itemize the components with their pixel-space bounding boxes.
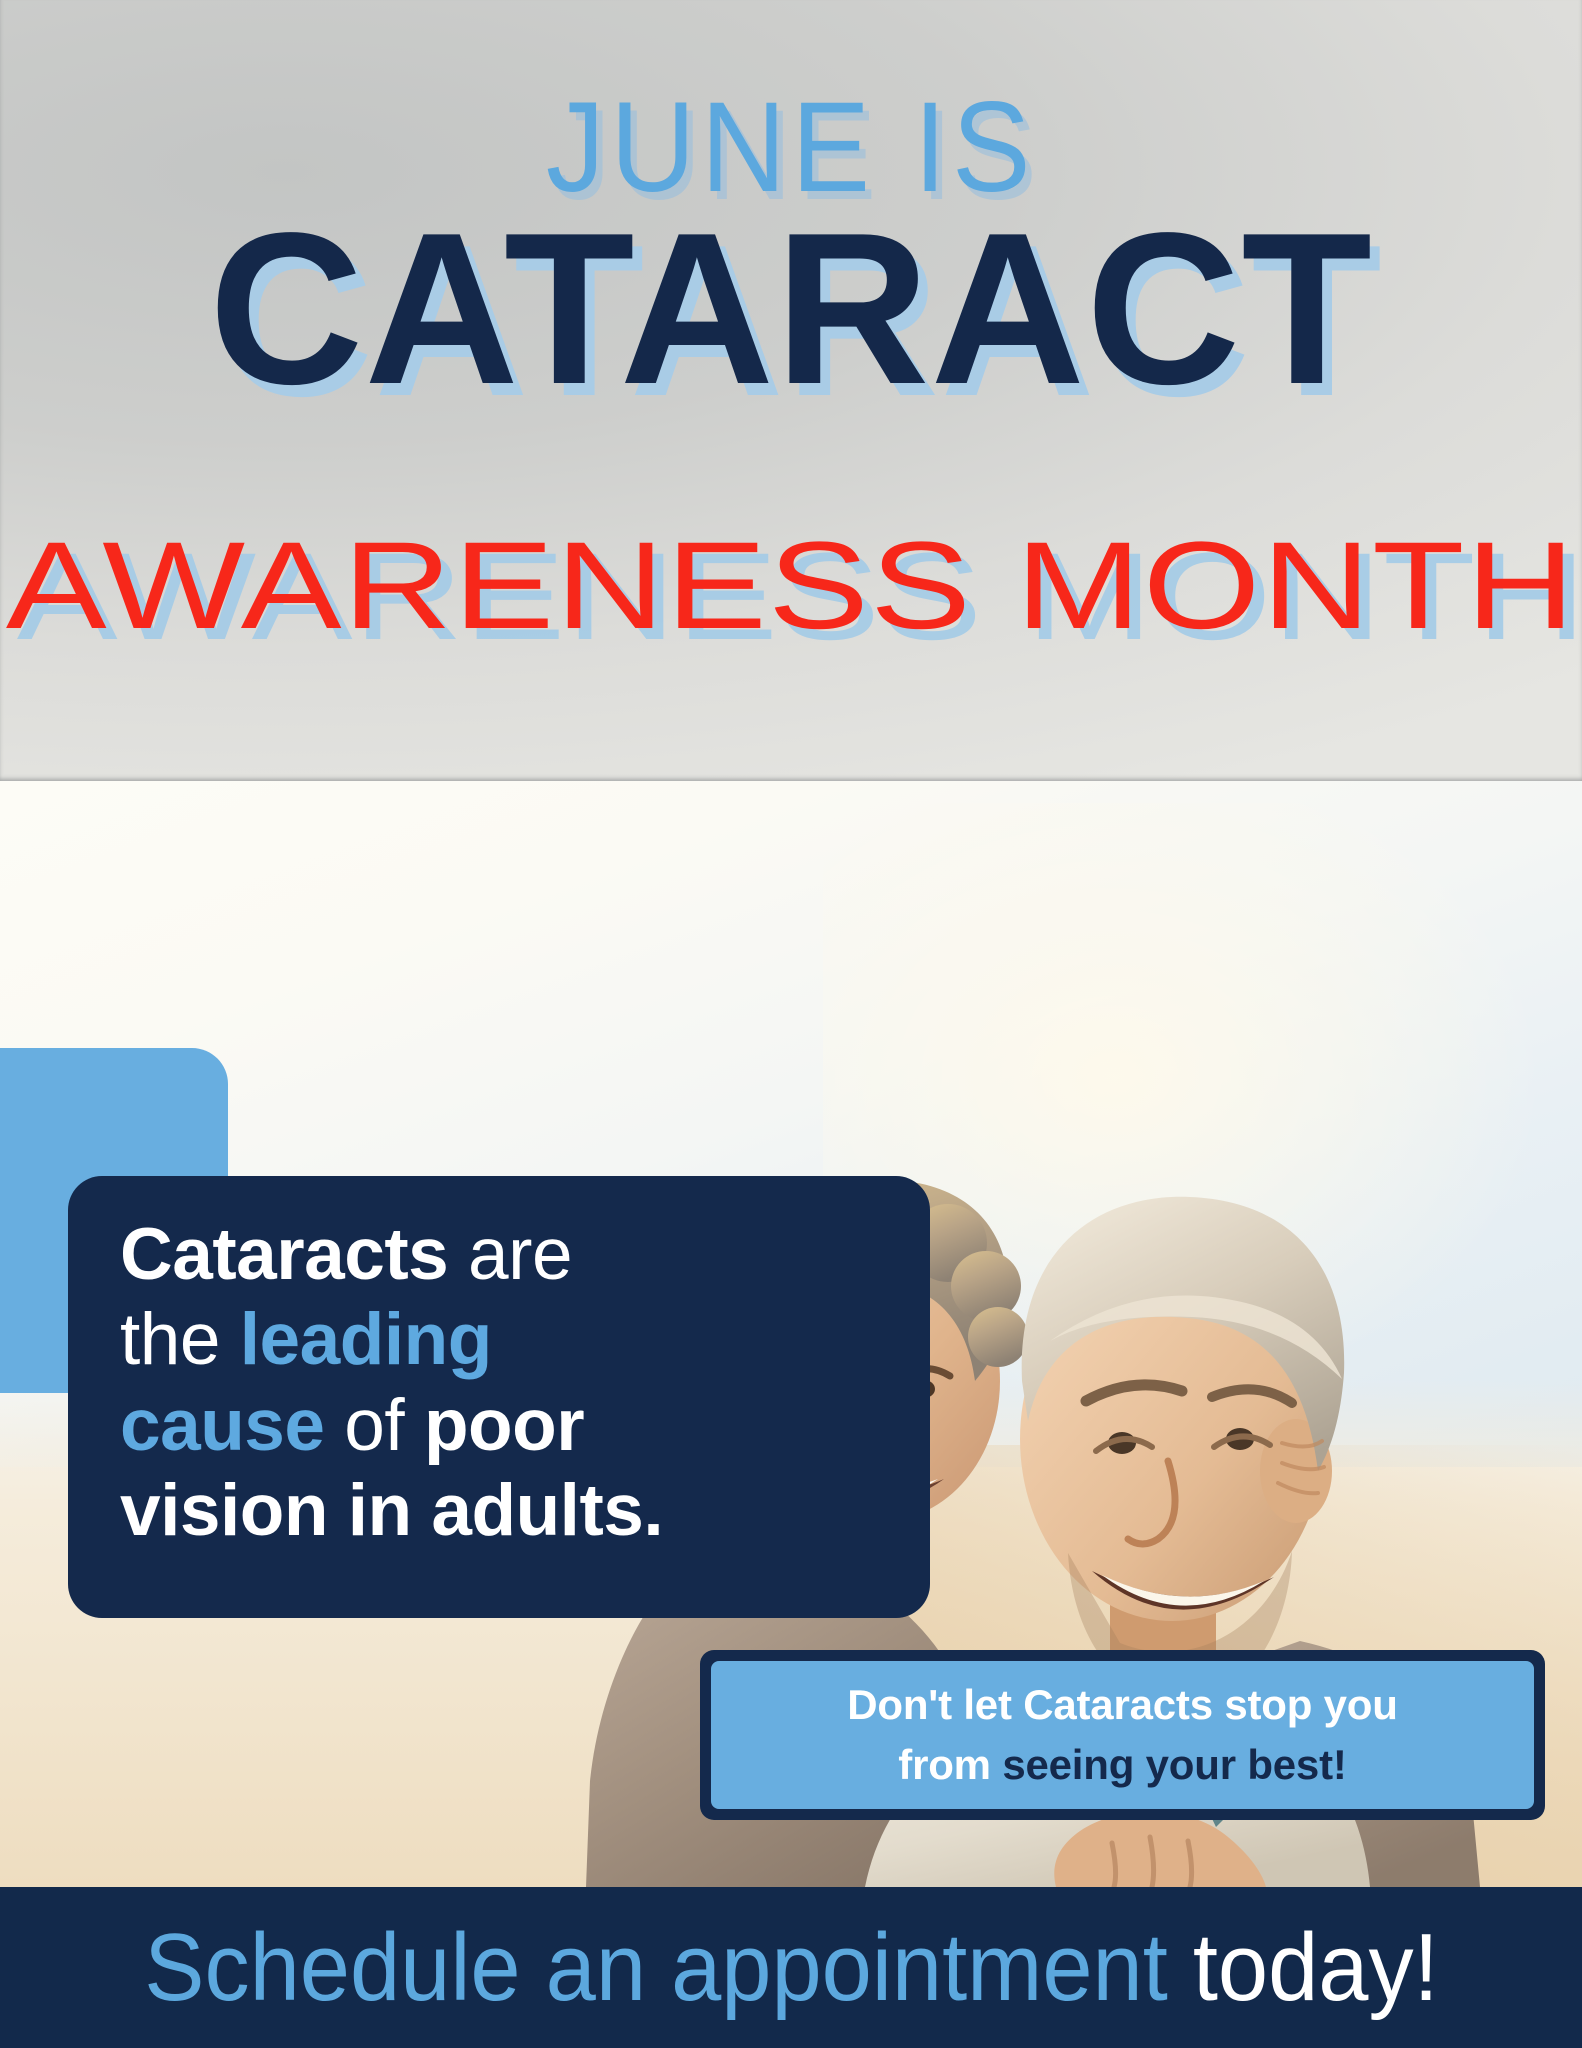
fact-text: Cataracts are the leading cause of poor … [120, 1212, 888, 1554]
fact-line-3: cause of poor [120, 1383, 888, 1468]
cta-line-1: Don't let Cataracts stop you [847, 1681, 1397, 1728]
fact-word-the: the [120, 1299, 240, 1380]
poster-root: JUNE IS CATARACT AWARENESS MONTH [0, 0, 1582, 2048]
fact-line-2: the leading [120, 1297, 888, 1382]
header-line-awareness-month: AWARENESS MONTH [0, 524, 1582, 648]
fact-word-leading: leading [240, 1299, 492, 1380]
header-text-group: JUNE IS CATARACT AWARENESS MONTH [0, 0, 1582, 781]
header-banner: JUNE IS CATARACT AWARENESS MONTH [0, 0, 1582, 781]
fact-word-poor: poor [424, 1385, 584, 1466]
fact-line-4: vision in adults. [120, 1468, 888, 1553]
cta-callout-inner: Don't let Cataracts stop you from seeing… [711, 1661, 1534, 1809]
cta-line-2-from: from [898, 1741, 1002, 1788]
header-line-cataract: CATARACT [8, 200, 1574, 416]
footer-schedule-appointment: Schedule an appointment [144, 1914, 1167, 2021]
fact-word-of: of [325, 1385, 424, 1466]
fact-word-cause: cause [120, 1385, 325, 1466]
footer-text: Schedule an appointment today! [144, 1920, 1438, 2016]
fact-callout-box: Cataracts are the leading cause of poor … [68, 1176, 930, 1618]
fact-word-cataracts: Cataracts [120, 1214, 448, 1295]
cta-callout-box: Don't let Cataracts stop you from seeing… [700, 1650, 1545, 1820]
fact-line-1: Cataracts are [120, 1212, 888, 1297]
fact-phrase-vision-in-adults: vision in adults. [120, 1470, 663, 1551]
footer-today: today! [1167, 1914, 1438, 2021]
cta-callout-text: Don't let Cataracts stop you from seeing… [847, 1675, 1397, 1794]
fact-word-are: are [448, 1214, 572, 1295]
cta-line-2-seeing-your-best: seeing your best! [1002, 1741, 1346, 1788]
footer-bar: Schedule an appointment today! [0, 1887, 1582, 2048]
